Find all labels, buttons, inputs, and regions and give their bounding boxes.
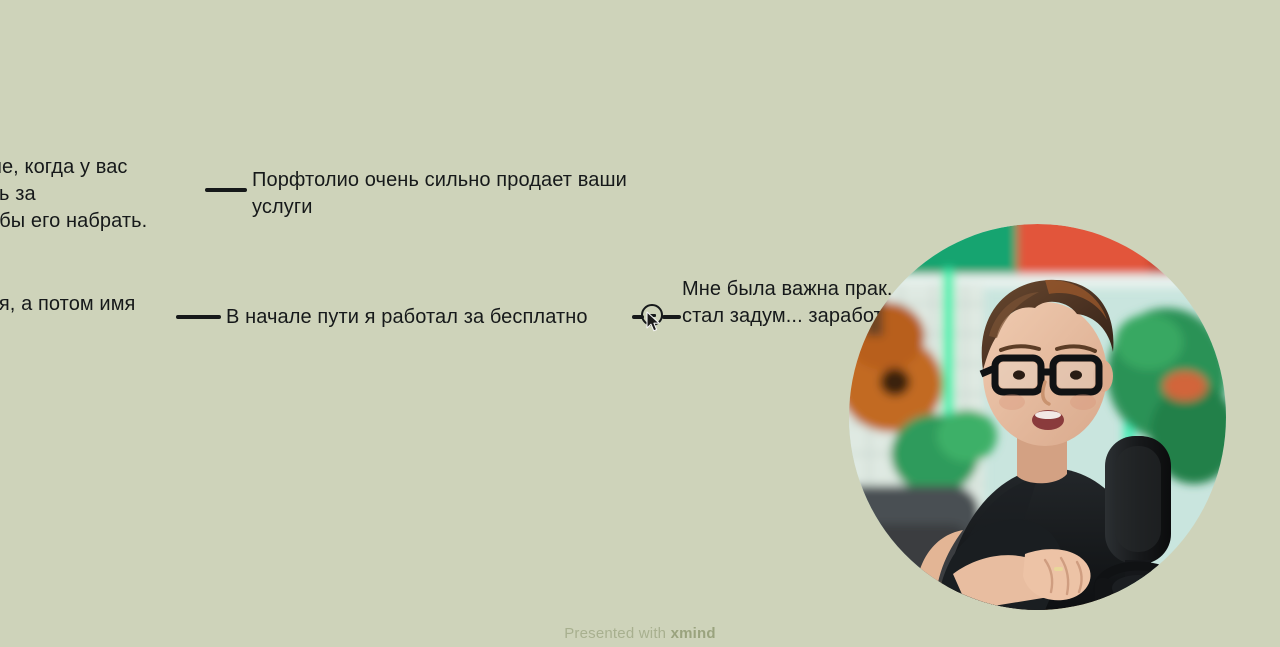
topic-free-work[interactable]: В начале пути я работал за бесплатно <box>226 304 626 331</box>
collapse-toggle-icon[interactable] <box>641 304 663 326</box>
topic-parent-clipped-b[interactable]: ...мя, а потом имя <box>0 291 178 318</box>
topic-parent-clipped-a[interactable]: ...але, когда у вас ...ать за ...тобы ег… <box>0 154 182 235</box>
connector-line-toggle-right <box>662 315 681 319</box>
connector-line-free-work <box>176 315 221 319</box>
watermark-brand: xmind <box>671 625 716 642</box>
webcam-video-bubble[interactable] <box>849 224 1226 610</box>
topic-portfolio[interactable]: Порфтолио очень сильно продает ваши услу… <box>252 167 672 221</box>
xmind-watermark: Presented with xmind <box>0 625 1280 642</box>
webcam-video-frame <box>849 224 1226 610</box>
connector-line-portfolio <box>205 188 247 192</box>
watermark-prefix: Presented with <box>564 625 670 642</box>
